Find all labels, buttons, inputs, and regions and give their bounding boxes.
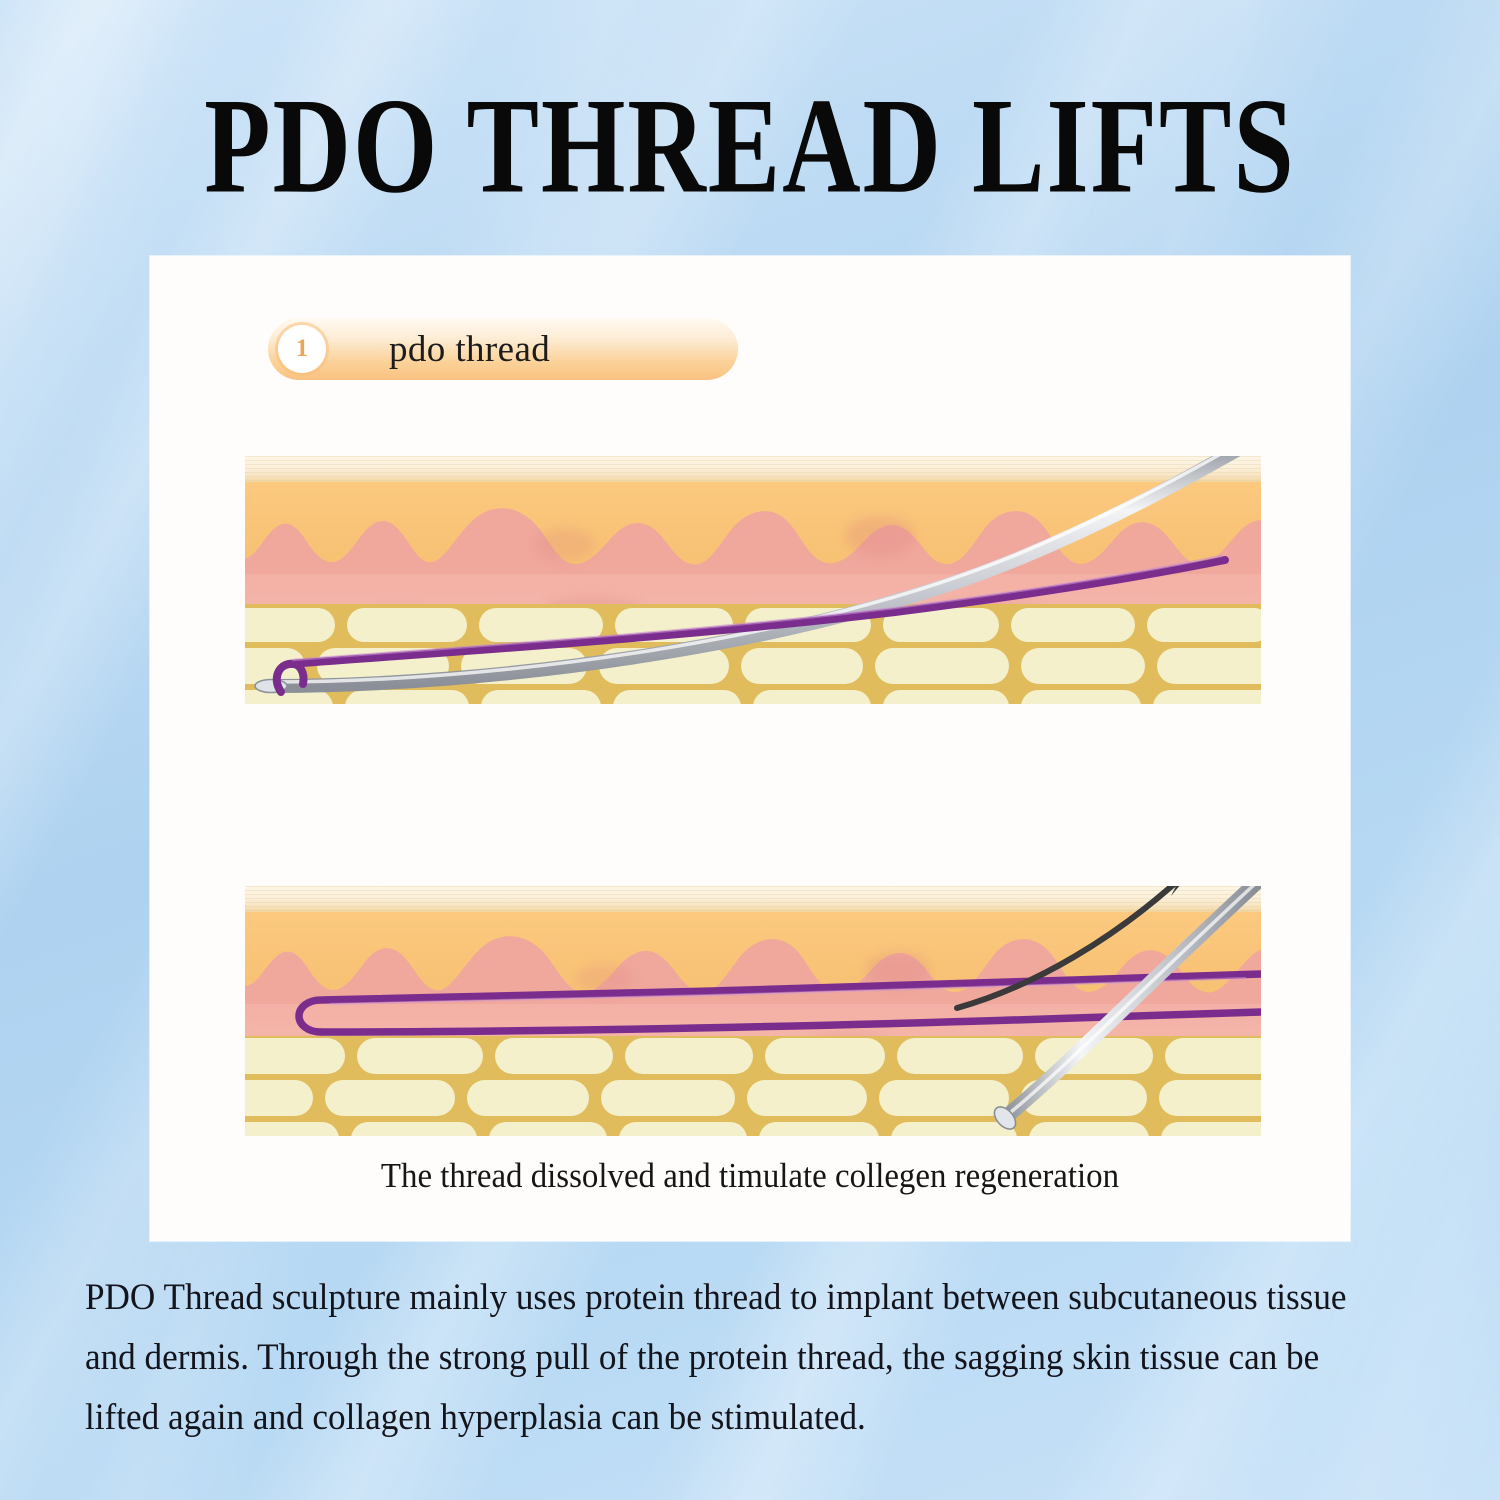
step-badge[interactable]: 1 pdo thread bbox=[268, 318, 738, 380]
pdo-thread bbox=[289, 560, 1225, 664]
description-paragraph: PDO Thread sculpture mainly uses protein… bbox=[85, 1268, 1363, 1448]
page-title: PDO THREAD LIFTS bbox=[23, 78, 1478, 215]
withdrawal-direction-arrow bbox=[957, 886, 1201, 1008]
content-card: 1 pdo thread bbox=[150, 256, 1350, 1241]
diagram-panel-insertion bbox=[245, 456, 1261, 704]
step-number-circle: 1 bbox=[278, 325, 326, 373]
insertion-instrument-group bbox=[245, 456, 1261, 704]
diagram-caption: The thread dissolved and timulate colleg… bbox=[186, 1156, 1314, 1196]
step-badge-label: pdo thread bbox=[389, 328, 550, 371]
diagram-panel-withdrawal bbox=[245, 886, 1261, 1136]
withdrawal-instrument-group bbox=[245, 886, 1261, 1136]
